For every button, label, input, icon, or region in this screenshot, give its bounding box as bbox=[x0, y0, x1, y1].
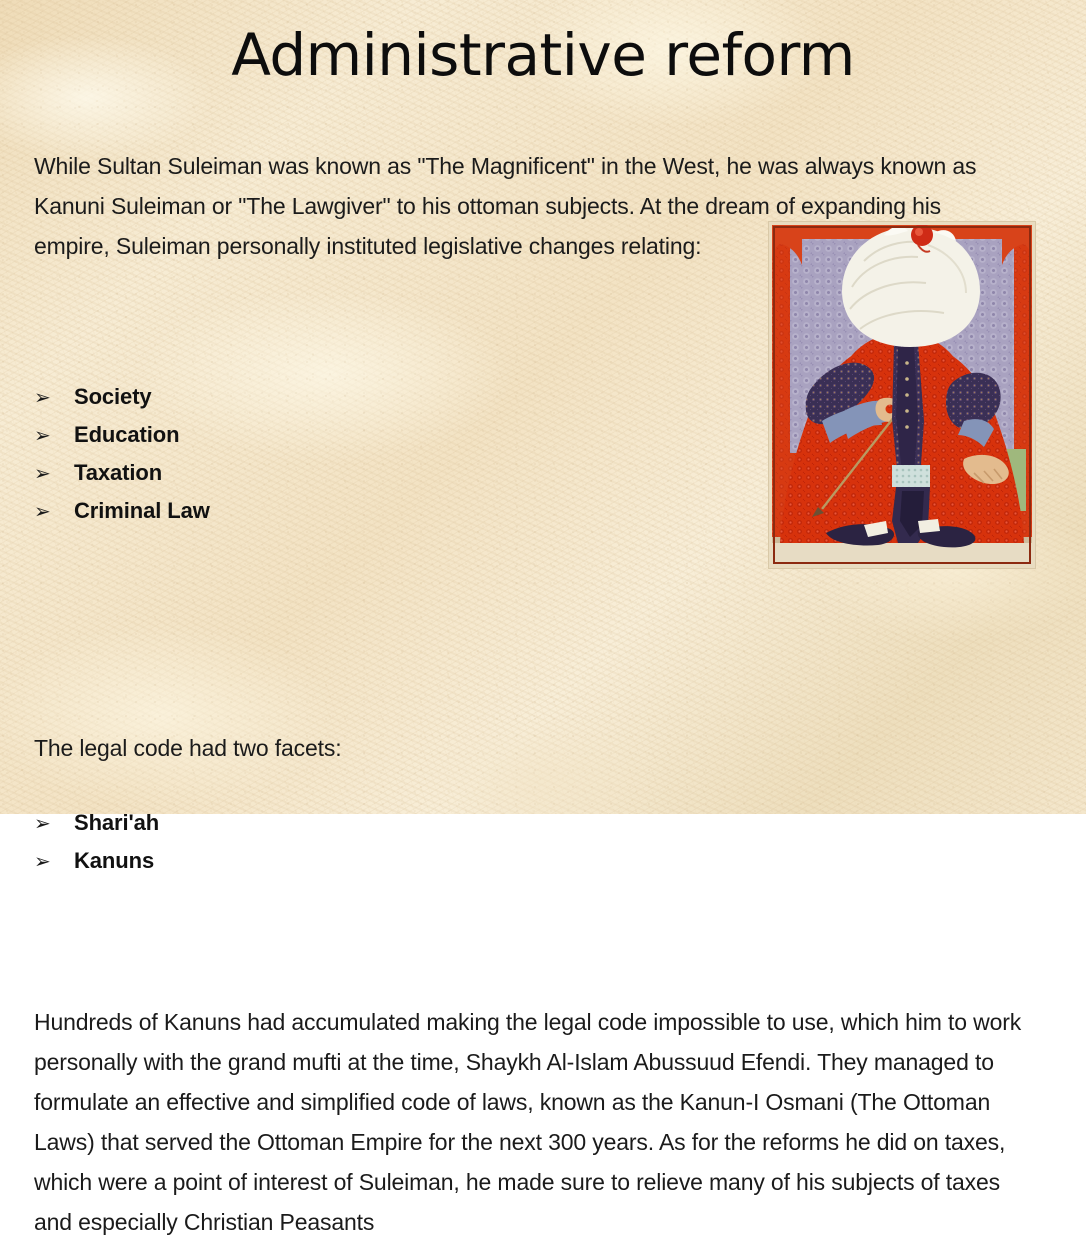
page-title: Administrative reform bbox=[0, 26, 1086, 84]
sultan-suleiman-portrait-image bbox=[768, 221, 1036, 569]
arrow-bullet-icon: ➢ bbox=[34, 499, 74, 523]
sultan-suleiman-miniature-illustration bbox=[768, 221, 1036, 569]
arrow-bullet-icon: ➢ bbox=[34, 849, 74, 873]
arrow-bullet-icon: ➢ bbox=[34, 423, 74, 447]
list-item-label: Taxation bbox=[74, 460, 162, 486]
arrow-bullet-icon: ➢ bbox=[34, 461, 74, 485]
list-item-label: Kanuns bbox=[74, 848, 154, 874]
slide-canvas: Administrative reform While Sultan Sulei… bbox=[0, 0, 1086, 814]
arrow-bullet-icon: ➢ bbox=[34, 811, 74, 835]
list-item-label: Criminal Law bbox=[74, 498, 210, 524]
legal-code-facets-list: ➢ Shari'ah ➢ Kanuns bbox=[34, 810, 1086, 886]
closing-paragraph: Hundreds of Kanuns had accumulated makin… bbox=[34, 1002, 1034, 1242]
list-item-label: Education bbox=[74, 422, 179, 448]
legal-code-lead-in: The legal code had two facets: bbox=[34, 728, 554, 768]
arrow-bullet-icon: ➢ bbox=[34, 385, 74, 409]
list-item-label: Society bbox=[74, 384, 152, 410]
list-item: ➢ Kanuns bbox=[34, 848, 1086, 886]
list-item: ➢ Shari'ah bbox=[34, 810, 1086, 848]
